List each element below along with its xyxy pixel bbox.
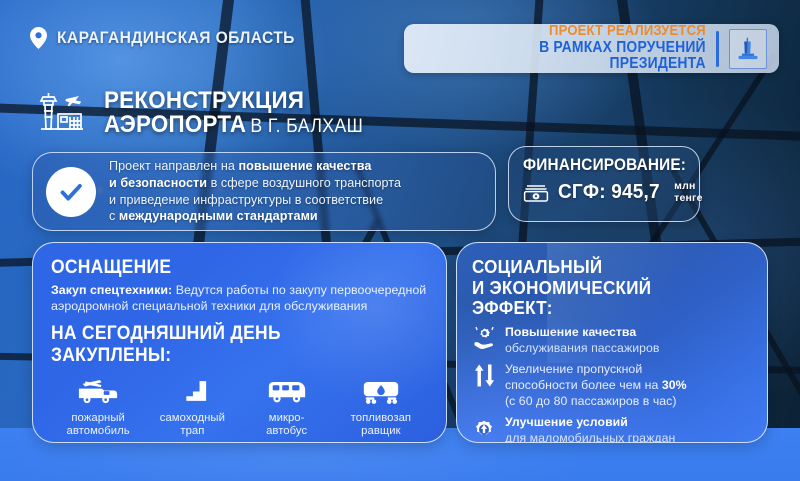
fuel-tanker-icon	[334, 375, 428, 405]
equipment-caption: самоходный трап	[145, 412, 239, 439]
caption-line-1: пожарный	[51, 412, 145, 426]
caption-line-2: автобус	[240, 425, 334, 439]
minibus-glyph	[266, 378, 308, 405]
title-strong: АЭРОПОРТА	[104, 111, 246, 138]
caption-line-2: равщик	[334, 425, 428, 439]
social-benefit-accessibility: Улучшение условийдля маломобильных гражд…	[472, 415, 753, 443]
social-economic-card: СОЦИАЛЬНЫЙ И ЭКОНОМИЧЕСКИЙ ЭФФЕКТ: Повыш…	[456, 242, 768, 443]
fuel-tanker-glyph	[360, 378, 402, 405]
social-heading-line-1: СОЦИАЛЬНЫЙ	[472, 257, 731, 278]
equipment-item-fire-truck: пожарный автомобиль	[51, 375, 145, 439]
financing-amount-row: СГФ: 945,7 млн тенге	[523, 181, 687, 205]
akorda-emblem-glyph	[734, 35, 762, 63]
stairs-ramp-icon	[145, 375, 239, 405]
akorda-building-icon	[729, 29, 767, 69]
title-light: В Г. БАЛХАШ	[250, 116, 363, 137]
equipment-item-minibus: микро- автобус	[240, 375, 334, 439]
equipment-caption: микро- автобус	[240, 412, 334, 439]
caption-line-2: трап	[145, 425, 239, 439]
stairs-ramp-glyph	[176, 378, 208, 405]
banknote-icon	[523, 183, 549, 203]
equipment-caption: топливозап равщик	[334, 412, 428, 439]
financing-unit-line-1: млн	[674, 181, 703, 193]
social-benefit-text: Улучшение условийдля маломобильных гражд…	[505, 415, 675, 443]
equipment-item-stairs-ramp: самоходный трап	[145, 375, 239, 439]
equipment-card: ОСНАЩЕНИЕ Закуп спецтехники: Ведутся раб…	[32, 242, 447, 443]
project-title-block: РЕКОНСТРУКЦИЯ АЭРОПОРТА В Г. БАЛХАШ	[30, 88, 383, 138]
president-badge-line-2: В РАМКАХ ПОРУЧЕНИЙ ПРЕЗИДЕНТА	[450, 40, 705, 73]
president-badge-texts: ПРОЕКТ РЕАЛИЗУЕТСЯ В РАМКАХ ПОРУЧЕНИЙ ПР…	[422, 24, 706, 72]
social-benefit-quality: Повышение качестваобслуживания пассажиро…	[472, 325, 753, 357]
caption-line-1: микро-	[240, 412, 334, 426]
financing-card: ФИНАНСИРОВАНИЕ: СГФ: 945,7 млн тенге	[508, 146, 700, 222]
region-name: КАРАГАНДИНСКАЯ ОБЛАСТЬ	[57, 28, 295, 48]
up-down-arrows-glyph	[473, 363, 496, 388]
caption-line-2: автомобиль	[51, 425, 145, 439]
social-benefit-text: Повышение качестваобслуживания пассажиро…	[505, 325, 660, 357]
caption-line-1: самоходный	[145, 412, 239, 426]
president-mandate-badge: ПРОЕКТ РЕАЛИЗУЕТСЯ В РАМКАХ ПОРУЧЕНИЙ ПР…	[404, 24, 779, 73]
title-line-1: РЕКОНСТРУКЦИЯ	[104, 89, 363, 113]
social-benefit-capacity: Увеличение пропускнойспособности более ч…	[472, 362, 753, 410]
fire-truck-icon	[51, 375, 145, 405]
check-mark-glyph	[57, 178, 85, 206]
equipment-caption: пожарный автомобиль	[51, 412, 145, 439]
equipment-subheading: НА СЕГОДНЯШНИЙ ДЕНЬ ЗАКУПЛЕНЫ:	[51, 323, 398, 367]
badge-divider	[716, 31, 719, 67]
title-line-2: АЭРОПОРТА В Г. БАЛХАШ	[104, 113, 363, 137]
equipment-item-fuel-tanker: топливозап равщик	[334, 375, 428, 439]
region-label-block: КАРАГАНДИНСКАЯ ОБЛАСТЬ	[30, 27, 315, 49]
equipment-heading: ОСНАЩЕНИЕ	[51, 257, 398, 279]
social-benefit-text: Увеличение пропускнойспособности более ч…	[505, 362, 687, 410]
social-heading: СОЦИАЛЬНЫЙ И ЭКОНОМИЧЕСКИЙ ЭФФЕКТ:	[472, 257, 731, 319]
fire-truck-glyph	[77, 378, 119, 405]
quality-service-hand-icon	[472, 325, 496, 351]
caption-line-1: топливозап	[334, 412, 428, 426]
gear-arrow-up-icon	[472, 415, 496, 441]
project-purpose-card: Проект направлен на повышение качестваи …	[32, 152, 496, 231]
equipment-items-grid: пожарный автомобиль самоходный трап	[51, 375, 428, 439]
president-badge-line-1: ПРОЕКТ РЕАЛИЗУЕТСЯ	[450, 24, 705, 39]
financing-amount: СГФ: 945,7	[558, 181, 660, 204]
location-pin-icon	[30, 27, 47, 49]
check-circle-icon	[46, 167, 96, 217]
up-down-arrows-icon	[472, 362, 496, 388]
social-benefits-list: Повышение качестваобслуживания пассажиро…	[472, 325, 753, 443]
purpose-text: Проект направлен на повышение качестваи …	[109, 158, 401, 226]
equipment-body-text: Закуп спецтехники: Ведутся работы по зак…	[51, 282, 428, 315]
airport-tower-icon	[30, 88, 92, 138]
financing-title: ФИНАНСИРОВАНИЕ:	[523, 156, 676, 175]
minibus-icon	[240, 375, 334, 405]
financing-unit: млн тенге	[674, 181, 703, 205]
gear-arrow-up-glyph	[472, 416, 496, 440]
infographic-canvas: КАРАГАНДИНСКАЯ ОБЛАСТЬ РЕКОН	[0, 0, 800, 481]
quality-hand-glyph	[473, 326, 496, 351]
financing-unit-line-2: тенге	[674, 193, 703, 205]
social-heading-line-2: И ЭКОНОМИЧЕСКИЙ ЭФФЕКТ:	[472, 278, 731, 319]
